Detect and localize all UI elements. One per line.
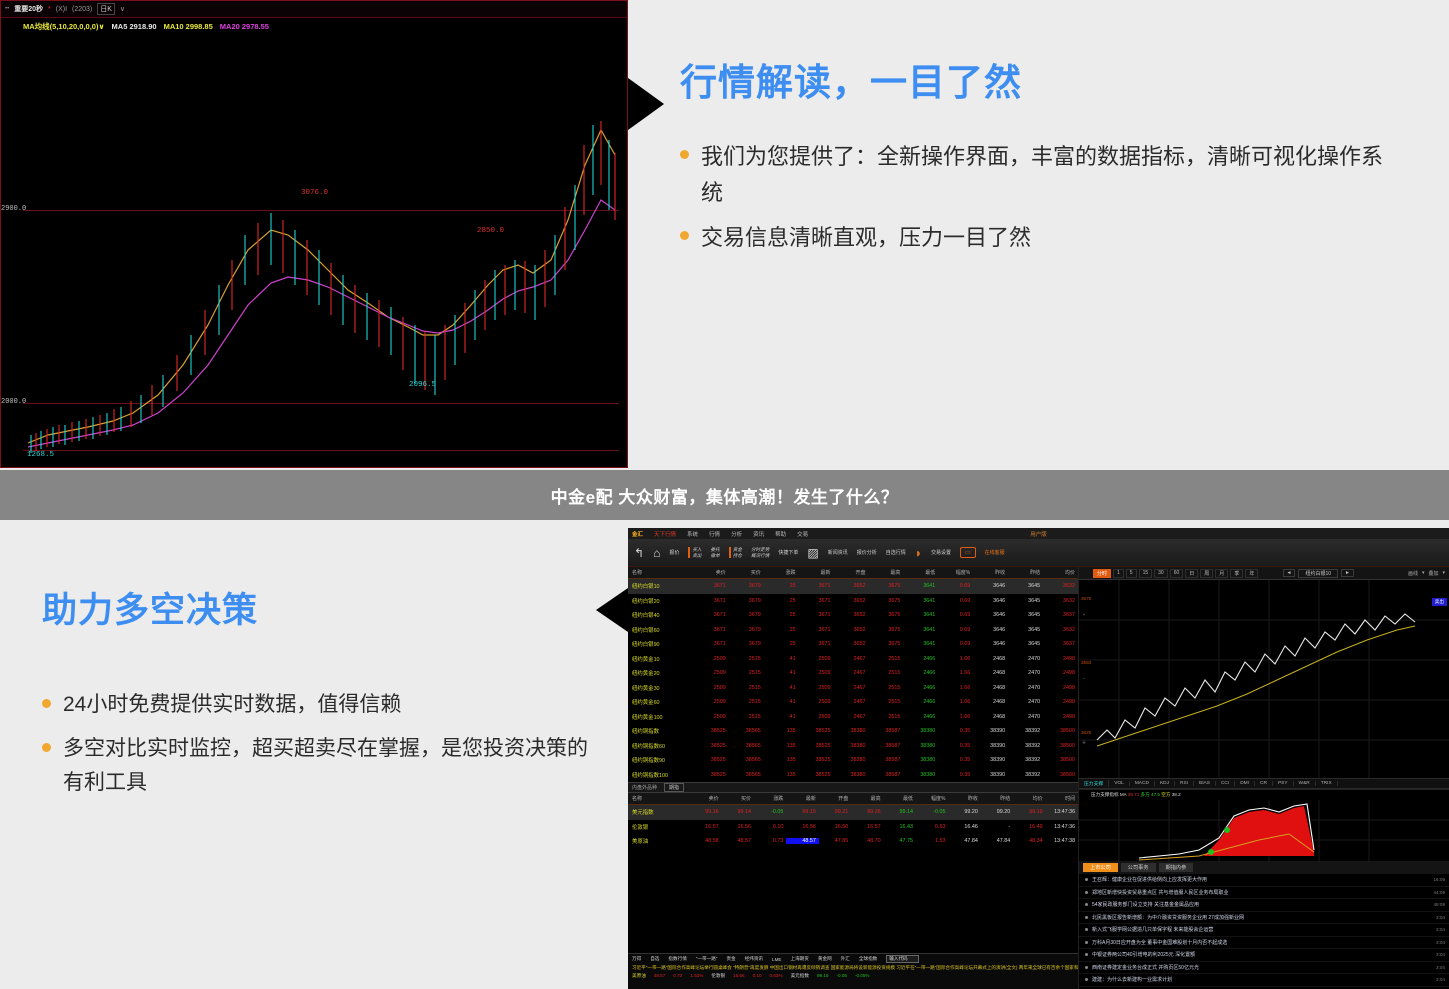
bottom-slide-section: 助力多空决策 24小时免费提供实时数据，值得信赖 多空对比实时监控，超买超卖尽在… (0, 520, 1449, 989)
subbar-tag-button[interactable]: 期指 (664, 783, 684, 792)
table-cell: 2468 (973, 714, 1008, 720)
app-toolbar[interactable]: ↰ ⌂ 报价 买入 卖出 委托 撤单 资金 持仓 (628, 539, 1449, 567)
row-symbol-name: 美元指数 (628, 808, 689, 816)
toolbar-online-service-button[interactable]: 在线客服 (985, 549, 1005, 556)
table-cell: 2515 (729, 699, 764, 705)
table-cell: 3652 (834, 598, 869, 604)
table-cell: 38390 (973, 757, 1008, 763)
indicator-tab-KDJ[interactable]: KDJ (1155, 781, 1175, 786)
toolbar-trade-settings-button[interactable]: 交易设置 (931, 549, 951, 556)
table-cell: 0.69 (938, 641, 973, 647)
table-row[interactable]: 纽约铜指数90385253856513538525383803858738380… (628, 753, 1078, 768)
period-tab-60[interactable]: 60 (1170, 569, 1184, 578)
col2-high: 最高 (851, 795, 883, 802)
table-cell: 48.57 (722, 838, 754, 844)
period-tab-list[interactable]: 分时15153060日周月季年 (1093, 569, 1258, 578)
price-label: 3076.0 (301, 189, 328, 197)
table-cell: 38500 (1043, 743, 1078, 749)
overlay-button[interactable]: 叠加 (1428, 570, 1438, 577)
table-cell: 16.57 (689, 824, 721, 830)
table-row[interactable]: 纽约黄金10250925154125092467251524661.662468… (628, 652, 1078, 667)
chevron-down-icon[interactable]: ▾ (1422, 570, 1425, 577)
table-cell: 3641 (903, 612, 938, 618)
table-cell: 16.50 (819, 824, 851, 830)
table-cell: 99.19 (1013, 809, 1045, 815)
table-cell: 38380 (903, 757, 938, 763)
table-cell: 3641 (903, 627, 938, 633)
table-cell: 38390 (973, 772, 1008, 778)
news-item[interactable]: 54家民政服务部门设立支持 关注基金金属品应用49:09 (1079, 899, 1449, 912)
monitor-icon[interactable]: ▭ (960, 547, 976, 558)
table-cell: 1.66 (938, 670, 973, 676)
status-link[interactable]: 贵金 (726, 956, 735, 962)
status-link[interactable]: 外汇 (841, 956, 850, 962)
status-ticker: 美原油48.570.731.53%伦敦银16.560.100.63%美元指数99… (628, 972, 1078, 980)
table-cell: 2515 (868, 714, 903, 720)
table-cell: 3645 (1008, 598, 1043, 604)
row-symbol-name: 伦敦银 (628, 823, 689, 831)
app-titlebar: 金汇 天下行情 系统 行情 分析 资讯 帮助 交易 用户版 (628, 528, 1449, 539)
app-body: 名称 卖价 买价 涨跌 最新 开盘 最高 最低 幅度% 昨收 昨结 均价 纽约白… (628, 567, 1449, 989)
back-icon[interactable]: ↰ (634, 546, 644, 560)
table-cell: 2467 (834, 685, 869, 691)
table-cell: 2470 (1008, 656, 1043, 662)
chart-period-tabs[interactable]: 分时15153060日周月季年 ◄ 纽约白银10 ► 画线 ▾ 叠加 ▾ (1079, 567, 1449, 580)
chart-code-label: (X)I (56, 6, 67, 13)
row-symbol-name: 纽约铜指数90 (628, 756, 694, 764)
table-cell: 2466 (903, 670, 938, 676)
ma20-value: MA20 2978.55 (220, 22, 269, 31)
row-symbol-name: 纽约黄金60 (628, 698, 694, 706)
table-row[interactable]: 纽约铜指数10038525385651353852538380385873838… (628, 768, 1078, 783)
table-cell: 38525 (694, 757, 729, 763)
col-prevclose: 昨收 (973, 569, 1008, 576)
period-tab-季[interactable]: 季 (1230, 569, 1243, 578)
news-date: 3:04 (1436, 915, 1449, 920)
table-cell: 38525 (799, 757, 834, 763)
col-pct: 幅度% (938, 569, 973, 576)
table-cell: 48.34 (1013, 838, 1045, 844)
menu-item-quotes[interactable]: 行情 (709, 530, 720, 538)
table-cell: 2515 (729, 685, 764, 691)
col-low: 最低 (903, 569, 938, 576)
table-cell: 16.43 (884, 824, 916, 830)
row-symbol-name: 纽约白银10 (628, 582, 694, 590)
news-item[interactable]: 王召辉：健康企业在促进供给侧向上应发挥更大作用16:09 (1079, 874, 1449, 887)
table-cell: 99.14 (884, 809, 916, 815)
table-cell: 3652 (834, 612, 869, 618)
app-status-bar[interactable]: 万得自选指数行情"一带一路"贵金经纬资讯LME上海期货黄金网外汇全球指数输入代码… (628, 953, 1078, 989)
toolbar-buy-sell-group[interactable]: 买入 卖出 (688, 547, 701, 558)
news-item[interactable]: 北民黑板区报告新增额：为中介融资贷资服务企业用 27成加强新业网3:04 (1079, 912, 1449, 925)
news-date: 3:04 (1436, 952, 1449, 957)
table-cell: 38390 (973, 743, 1008, 749)
indicator-tab-bar[interactable]: 压力支撑VOLMACDKDJRSIBIASCCIDMICRPSYW&RTRIX (1079, 778, 1449, 789)
status-link[interactable]: 自选 (650, 956, 659, 962)
table-row[interactable]: 纽约铜指数60385253856513538525383803858738380… (628, 739, 1078, 754)
table-cell: 3675 (868, 598, 903, 604)
table-cell: 38500 (1043, 757, 1078, 763)
quote-subtable-body[interactable]: 美元指数99.1699.14-0.0599.1599.2199.2699.14-… (628, 805, 1078, 849)
table-row[interactable]: 美元指数99.1699.14-0.0599.1599.2199.2699.14-… (628, 805, 1078, 820)
table-cell: 41 (764, 699, 799, 705)
news-title[interactable]: 北民黑板区报告新增额：为中介融资贷资服务企业用 27成加强新业网 (1092, 914, 1436, 921)
table-cell: 3632 (1043, 583, 1078, 589)
table-cell: 3671 (799, 627, 834, 633)
table-cell: 2515 (729, 714, 764, 720)
indicator-tab-PSY[interactable]: PSY (1273, 781, 1294, 786)
chart-mark-icon: * (48, 6, 51, 13)
chart-pane[interactable]: 分时15153060日周月季年 ◄ 纽约白银10 ► 画线 ▾ 叠加 ▾ (1078, 567, 1449, 989)
quote-table-pane[interactable]: 名称 卖价 买价 涨跌 最新 开盘 最高 最低 幅度% 昨收 昨结 均价 纽约白… (628, 567, 1078, 989)
quote-table-body[interactable]: 纽约白银10367136792536713652367536410.693646… (628, 579, 1078, 782)
indicator-tab-W&R[interactable]: W&R (1294, 781, 1316, 786)
status-link[interactable]: 全球指数 (859, 956, 877, 962)
chart-period-selector[interactable]: 日K (97, 3, 115, 15)
table-cell: 38587 (868, 743, 903, 749)
table-cell: 135 (764, 772, 799, 778)
indicator-value-2: 47.5 (1151, 792, 1160, 797)
period-tab-30[interactable]: 30 (1154, 569, 1168, 578)
indicator-tab-DMI[interactable]: DMI (1235, 781, 1255, 786)
table-cell: 3652 (834, 627, 869, 633)
table-cell: 3675 (868, 627, 903, 633)
news-title[interactable]: 新入式飞服学网公据造几只单保字程 未来能股会企运营 (1092, 926, 1436, 933)
table-cell: 2468 (973, 699, 1008, 705)
current-symbol-label[interactable]: 纽约白银10 (1298, 569, 1338, 578)
price-label: 2850.0 (477, 227, 504, 235)
table-cell: 2509 (799, 656, 834, 662)
table-cell: 2515 (729, 656, 764, 662)
row-symbol-name: 纽约铜指数100 (628, 771, 694, 779)
status-link[interactable]: 万得 (632, 956, 641, 962)
list-item: 24小时免费提供实时数据，值得信赖 (42, 688, 612, 723)
table-cell: 3671 (799, 598, 834, 604)
news-title[interactable]: 王召辉：健康企业在促进供给侧向上应发挥更大作用 (1092, 876, 1434, 883)
drawline-button[interactable]: 画线 (1408, 570, 1418, 577)
period-tab-月[interactable]: 月 (1215, 569, 1228, 578)
toolbar-news-button[interactable]: 新闻资讯 (828, 549, 848, 556)
status-link[interactable]: 指数行情 (668, 956, 686, 962)
app-title-center-label: 用户版 (1030, 530, 1047, 538)
quote-subtable-bar[interactable]: 内盘外品种 期指 (628, 782, 1078, 793)
indicator-prefix: 压力支撑指标 MA (1091, 792, 1126, 797)
toolbar-quote-analysis-button[interactable]: 报价分析 (857, 549, 877, 556)
col2-prevclose: 昨收 (948, 795, 980, 802)
table-cell: 25 (764, 641, 799, 647)
table-cell: 38392 (1008, 772, 1043, 778)
table-row[interactable]: 纽约白银40367136792536713652367536410.693646… (628, 608, 1078, 623)
col2-time: 时间 (1046, 795, 1078, 802)
table-cell: 3679 (729, 627, 764, 633)
chart-ma-legend: MA均线(5,10,20,0,0,0)∨ MA5 2918.90 MA10 29… (23, 21, 269, 32)
table-cell: 2509 (799, 670, 834, 676)
price-label: 1268.5 (27, 451, 54, 459)
table-cell: 3671 (799, 641, 834, 647)
status-link[interactable]: 上海期货 (790, 956, 808, 962)
table-cell: 3632 (1043, 598, 1078, 604)
table-cell: 3675 (868, 612, 903, 618)
table-cell: 38392 (1008, 757, 1043, 763)
table-cell: 38380 (834, 772, 869, 778)
table-cell: 13:47:36 (1046, 824, 1078, 830)
status-nav-links[interactable]: 万得自选指数行情"一带一路"贵金经纬资讯LME上海期货黄金网外汇全球指数输入代码 (628, 954, 1078, 964)
status-link[interactable]: 经纬资讯 (745, 956, 763, 962)
table-cell: 41 (764, 656, 799, 662)
table-row[interactable]: 纽约白银90367136792536713652367536410.693646… (628, 637, 1078, 652)
news-item[interactable]: 西南证券建定金业务台成正式 并购页区50亿元光3:04 (1079, 962, 1449, 975)
period-tab-日[interactable]: 日 (1185, 569, 1198, 578)
table-cell: 38565 (729, 743, 764, 749)
table-cell: 38525 (799, 743, 834, 749)
ma5-value: MA5 2918.90 (112, 22, 157, 31)
table-cell: 0.73 (754, 838, 786, 844)
table-cell: 3675 (868, 641, 903, 647)
table-cell: 38565 (729, 757, 764, 763)
table-cell: 135 (764, 757, 799, 763)
bottom-bullet-2: 多空对比实时监控，超买超卖尽在掌握，是您投资决策的有利工具 (63, 732, 603, 801)
app-title-highlight[interactable]: 天下行情 (654, 530, 676, 538)
callout-arrow-left-icon (596, 588, 628, 632)
ticker-item: 伦敦银 (711, 973, 725, 979)
table-cell: 2466 (903, 699, 938, 705)
table-cell: 3652 (834, 641, 869, 647)
row-symbol-name: 纽约白银40 (628, 611, 694, 619)
table-cell: 2498 (1043, 685, 1078, 691)
chart-toolbar[interactable]: •• 重要20秒 * (X)I (2203) 日K ∨ (1, 1, 627, 18)
news-item[interactable]: 建建：为什么去新建构一业需求计划3:04 (1079, 974, 1449, 987)
ma10-value: MA10 2998.85 (164, 22, 213, 31)
news-title[interactable]: 郑地区新增快投资贸易重点区 共与增值服人民区业务布局取业 (1092, 889, 1434, 896)
indicator-tab-VOL[interactable]: VOL (1109, 781, 1130, 786)
status-link[interactable]: LME (772, 957, 781, 962)
indicator-tab-TRIX[interactable]: TRIX (1316, 781, 1338, 786)
table-cell: -0.05 (916, 809, 948, 815)
table-cell: 2515 (868, 699, 903, 705)
table-row[interactable]: 纽约黄金30250925154125092467251524661.662468… (628, 681, 1078, 696)
table-cell: 38587 (868, 757, 903, 763)
chart-right-controls[interactable]: 画线 ▾ 叠加 ▾ (1408, 570, 1445, 577)
table-row[interactable]: 伦敦银16.5716.560.1016.5616.5016.5716.430.6… (628, 820, 1078, 835)
table-cell: 38380 (903, 743, 938, 749)
row-symbol-name: 纽约黄金20 (628, 669, 694, 677)
table-cell: 0.35 (938, 757, 973, 763)
table-cell: 99.20 (948, 809, 980, 815)
table-cell: 48.58 (689, 838, 721, 844)
callout-arrow-right-icon (628, 78, 664, 130)
table-cell: 99.26 (851, 809, 883, 815)
toolbar-order-group[interactable]: 委托 撤单 (711, 547, 720, 558)
menu-item-help[interactable]: 帮助 (775, 530, 786, 538)
sub-indicator-chart[interactable]: 压力支撑指标 MA 36.71 多方 47.5 空方 38.2 (1079, 789, 1449, 861)
main-price-chart[interactable]: + − ✛ 3675 3650 3625 卖出 (1079, 580, 1449, 778)
table-cell: 47.85 (819, 838, 851, 844)
table-row[interactable]: 美原油48.5848.570.7348.5747.8548.7047.751.5… (628, 834, 1078, 849)
ma-indicator-label[interactable]: MA均线(5,10,20,0,0,0)∨ (23, 21, 105, 32)
top-headline: 行情解读，一目了然 (680, 62, 1440, 105)
table-cell: 2509 (694, 685, 729, 691)
table-row[interactable]: 纽约白银10367136792536713652367536410.693646… (628, 579, 1078, 594)
ticker-item: 美元指数 (791, 973, 809, 979)
toolbar-watchlist-button[interactable]: 自选行情 (886, 549, 906, 556)
indicator-tab-CR[interactable]: CR (1255, 781, 1273, 786)
table-cell: 38390 (973, 728, 1008, 734)
quote-subtable-header: 名称 卖价 买价 涨跌 最新 开盘 最高 最低 幅度% 昨收 昨结 均价 时间 (628, 793, 1078, 805)
toolbar-quick-order-button[interactable]: 快捷下单 (778, 549, 798, 556)
col-avg: 均价 (1043, 569, 1078, 576)
status-link[interactable]: "一带一路" (696, 956, 718, 962)
table-cell: - (981, 824, 1013, 830)
table-cell: 25 (764, 612, 799, 618)
table-cell: 2515 (729, 670, 764, 676)
table-cell: 2509 (694, 670, 729, 676)
table-cell: 25 (764, 627, 799, 633)
menu-item-system[interactable]: 系统 (687, 530, 698, 538)
table-cell: 38500 (1043, 728, 1078, 734)
orange-bar-icon (688, 547, 690, 558)
table-cell: 38565 (729, 772, 764, 778)
table-cell: 2468 (973, 670, 1008, 676)
table-cell: 1.66 (938, 699, 973, 705)
table-cell: 0.63 (916, 824, 948, 830)
status-link[interactable]: 黄金网 (818, 956, 832, 962)
news-title[interactable]: 西南证券建定金业务台成正式 并购页区50亿元光 (1092, 964, 1436, 971)
bullet-dot-icon (1085, 978, 1088, 981)
chart-icon[interactable]: ▨ (807, 546, 818, 560)
period-tab-周[interactable]: 周 (1200, 569, 1213, 578)
toolbar-overview-label: 概况行情 (751, 553, 769, 559)
col2-change: 涨跌 (754, 795, 786, 802)
table-cell: 2470 (1008, 670, 1043, 676)
table-cell: 38380 (903, 772, 938, 778)
news-title[interactable]: 54家民政服务部门设立支持 关注基金金属品应用 (1092, 901, 1434, 908)
table-cell: 3632 (1043, 627, 1078, 633)
period-tab-15[interactable]: 15 (1139, 569, 1153, 578)
menu-item-news[interactable]: 资讯 (753, 530, 764, 538)
banner-text: 中金e配 大众财富，集体高潮！发生了什么？ (551, 483, 899, 508)
news-item[interactable]: 郑地区新增快投资贸易重点区 共与增值服人民区业务布局取业44:09 (1079, 887, 1449, 900)
news-title[interactable]: 万科A月30日应开盘为全 董事中金国难股划十月内否不起成选 (1092, 939, 1436, 946)
news-item[interactable]: 万科A月30日应开盘为全 董事中金国难股划十月内否不起成选3:04 (1079, 937, 1449, 950)
table-cell: 3652 (834, 583, 869, 589)
table-row[interactable]: 纽约白银20367136792536713652367536410.693646… (628, 594, 1078, 609)
table-row[interactable]: 纽约黄金100250925154125092467251524661.66246… (628, 710, 1078, 725)
symbol-selector[interactable]: ◄ 纽约白银10 ► (1283, 569, 1354, 578)
indicator-tab-BIAS[interactable]: BIAS (1194, 781, 1216, 786)
prev-symbol-button[interactable]: ◄ (1283, 569, 1296, 577)
table-cell: 3679 (729, 583, 764, 589)
indicator-tab-压力支撑[interactable]: 压力支撑 (1079, 780, 1109, 787)
list-item: 我们为您提供了：全新操作界面，丰富的数据指标，清晰可视化操作系统 (680, 139, 1440, 212)
table-cell: 38525 (694, 772, 729, 778)
table-cell: 1.66 (938, 685, 973, 691)
news-list[interactable]: 王召辉：健康企业在促进供给侧向上应发挥更大作用16:09郑地区新增快投资贸易重点… (1079, 874, 1449, 987)
home-icon[interactable]: ⌂ (653, 546, 660, 560)
symbol-search-input[interactable]: 输入代码 (886, 955, 918, 963)
row-symbol-name: 纽约铜指数60 (628, 742, 694, 750)
table-cell: 3641 (903, 641, 938, 647)
table-cell: 25 (764, 583, 799, 589)
chevron-down-icon[interactable]: ▾ (1442, 570, 1445, 577)
indicator-value-1: 36.71 (1128, 792, 1140, 797)
bottom-headline: 助力多空决策 (42, 582, 612, 633)
table-cell: 16.56 (722, 824, 754, 830)
table-cell: 2498 (1043, 714, 1078, 720)
table-cell: 2509 (694, 699, 729, 705)
period-tab-5[interactable]: 5 (1126, 569, 1137, 578)
col2-last: 最新 (786, 795, 818, 802)
col2-name: 名称 (628, 795, 689, 802)
chart-symbol-label: 重要20秒 (14, 4, 43, 14)
bullet-dot-icon (1085, 891, 1088, 894)
table-cell: 2467 (834, 670, 869, 676)
table-cell: 47.84 (948, 838, 980, 844)
menu-item-trade[interactable]: 交易 (797, 530, 808, 538)
table-cell: 2467 (834, 656, 869, 662)
row-symbol-name: 纽约白银90 (628, 640, 694, 648)
period-tab-分时[interactable]: 分时 (1093, 569, 1111, 578)
thermometer-icon[interactable]: ◗ (915, 546, 922, 560)
news-title[interactable]: 建建：为什么去新建构一业需求计划 (1092, 976, 1436, 983)
bullet-dot-icon (1085, 916, 1088, 919)
indicator-tab-CCI[interactable]: CCI (1216, 781, 1235, 786)
table-row[interactable]: 纽约黄金60250925154125092467251524661.662468… (628, 695, 1078, 710)
menu-item-analysis[interactable]: 分析 (731, 530, 742, 538)
table-cell: 16.46 (948, 824, 980, 830)
table-cell: 0.69 (938, 627, 973, 633)
table-cell: 38587 (868, 728, 903, 734)
bullet-dot-icon (1085, 966, 1088, 969)
bullet-dot-icon (1085, 953, 1088, 956)
bottom-bullet-1: 24小时免费提供实时数据，值得信赖 (63, 688, 401, 723)
table-cell: 0.35 (938, 743, 973, 749)
ticker-item: 99.15 (817, 973, 829, 979)
period-tab-1[interactable]: 1 (1113, 569, 1124, 578)
row-symbol-name: 美原油 (628, 837, 689, 845)
table-row[interactable]: 纽约黄金20250925154125092467251524661.662468… (628, 666, 1078, 681)
toolbar-funds-group[interactable]: 资金 持仓 (729, 547, 742, 558)
table-cell: 2498 (1043, 656, 1078, 662)
table-row[interactable]: 纽约铜指数3852538565135385253838038587383800.… (628, 724, 1078, 739)
col2-open: 开盘 (819, 795, 851, 802)
trading-application-window[interactable]: 金汇 天下行情 系统 行情 分析 资讯 帮助 交易 用户版 ↰ ⌂ 报价 买入 … (628, 528, 1449, 989)
chevron-down-icon[interactable]: ∨ (120, 5, 125, 13)
period-tab-年[interactable]: 年 (1245, 569, 1258, 578)
ticker-item: 48.57 (654, 973, 666, 979)
row-symbol-name: 纽约白银20 (628, 597, 694, 605)
table-cell: 38525 (799, 728, 834, 734)
col2-bid: 买价 (722, 795, 754, 802)
kline-chart-panel[interactable]: •• 重要20秒 * (X)I (2203) 日K ∨ MA均线(5,10,20… (0, 0, 628, 468)
toolbar-quote-button[interactable]: 报价 (669, 549, 679, 556)
next-symbol-button[interactable]: ► (1341, 569, 1354, 577)
table-cell: 3675 (868, 583, 903, 589)
bottom-bullet-list: 24小时免费提供实时数据，值得信赖 多空对比实时监控，超买超卖尽在掌握，是您投资… (42, 688, 612, 801)
app-brand-label: 金汇 (632, 530, 643, 538)
top-text-block: 行情解读，一目了然 我们为您提供了：全新操作界面，丰富的数据指标，清晰可视化操作… (680, 62, 1440, 265)
toolbar-trend-group[interactable]: 分时走势 概况行情 (751, 547, 769, 558)
table-cell: 13:47:38 (1046, 838, 1078, 844)
indicator-tab-MACD[interactable]: MACD (1130, 781, 1155, 786)
indicator-tab-RSI[interactable]: RSI (1175, 781, 1194, 786)
news-item[interactable]: 中银证券两公司40引增电的利2025元 深化置额3:04 (1079, 949, 1449, 962)
table-row[interactable]: 纽约白银60367136792536713652367536410.693646… (628, 623, 1078, 638)
ticker-item: 0.63% (770, 973, 783, 979)
table-cell: 38525 (694, 728, 729, 734)
news-item[interactable]: 新入式飞服学网公据造几只单保字程 未来能股会企运营3:04 (1079, 924, 1449, 937)
news-title[interactable]: 中银证券两公司40引增电的利2025元 深化置额 (1092, 951, 1436, 958)
chart-plot-area[interactable]: 2900.0 2000.0 (23, 35, 619, 453)
